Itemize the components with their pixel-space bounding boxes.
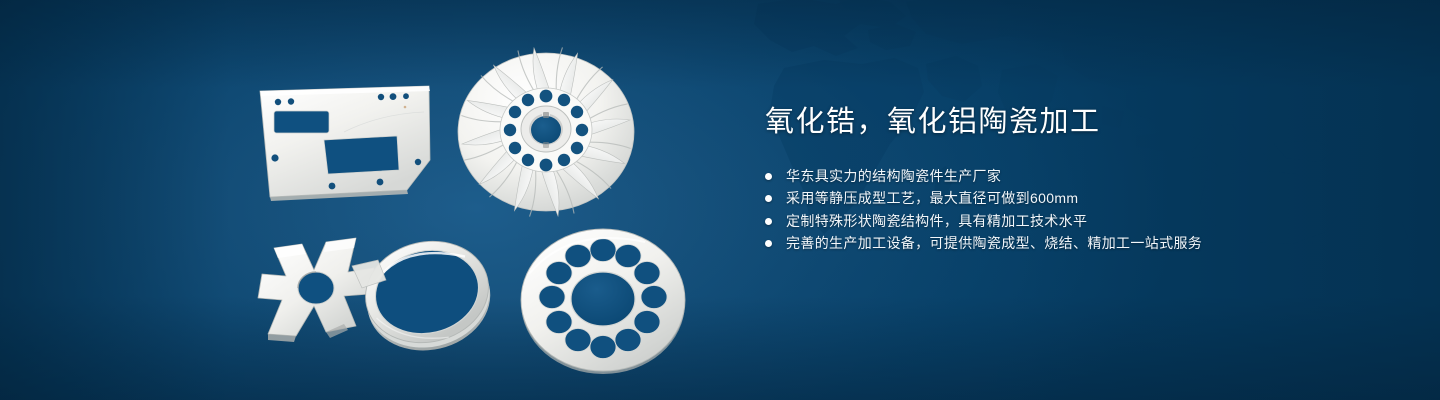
rectangular-ceramic-plate — [252, 82, 437, 206]
ceramic-ring — [352, 226, 502, 358]
banner-bullet-item: 定制特殊形状陶瓷结构件，具有精加工技术水平 — [765, 210, 1385, 232]
hero-banner: 氧化锆，氧化铝陶瓷加工 华东具实力的结构陶瓷件生产厂家 采用等静压成型工艺，最大… — [0, 0, 1440, 400]
banner-bullet-text: 华东具实力的结构陶瓷件生产厂家 — [786, 168, 1001, 184]
banner-bullet-item: 华东具实力的结构陶瓷件生产厂家 — [765, 165, 1385, 187]
banner-bullet-text: 定制特殊形状陶瓷结构件，具有精加工技术水平 — [786, 213, 1087, 229]
perforated-ceramic-disc — [518, 226, 688, 374]
ceramic-impeller — [455, 52, 637, 218]
banner-bullet-list: 华东具实力的结构陶瓷件生产厂家 采用等静压成型工艺，最大直径可做到600mm 定… — [765, 165, 1385, 254]
banner-bullet-text: 采用等静压成型工艺，最大直径可做到600mm — [786, 190, 1078, 206]
bullet-dot-icon — [765, 240, 772, 247]
bullet-dot-icon — [765, 195, 772, 202]
banner-bullet-text: 完善的生产加工设备，可提供陶瓷成型、烧结、精加工一站式服务 — [786, 235, 1202, 251]
banner-copy: 氧化锆，氧化铝陶瓷加工 华东具实力的结构陶瓷件生产厂家 采用等静压成型工艺，最大… — [765, 108, 1385, 254]
banner-bullet-item: 完善的生产加工设备，可提供陶瓷成型、烧结、精加工一站式服务 — [765, 232, 1385, 254]
bullet-dot-icon — [765, 218, 772, 225]
bullet-dot-icon — [765, 173, 772, 180]
banner-headline: 氧化锆，氧化铝陶瓷加工 — [765, 108, 1385, 137]
banner-bullet-item: 采用等静压成型工艺，最大直径可做到600mm — [765, 187, 1385, 209]
